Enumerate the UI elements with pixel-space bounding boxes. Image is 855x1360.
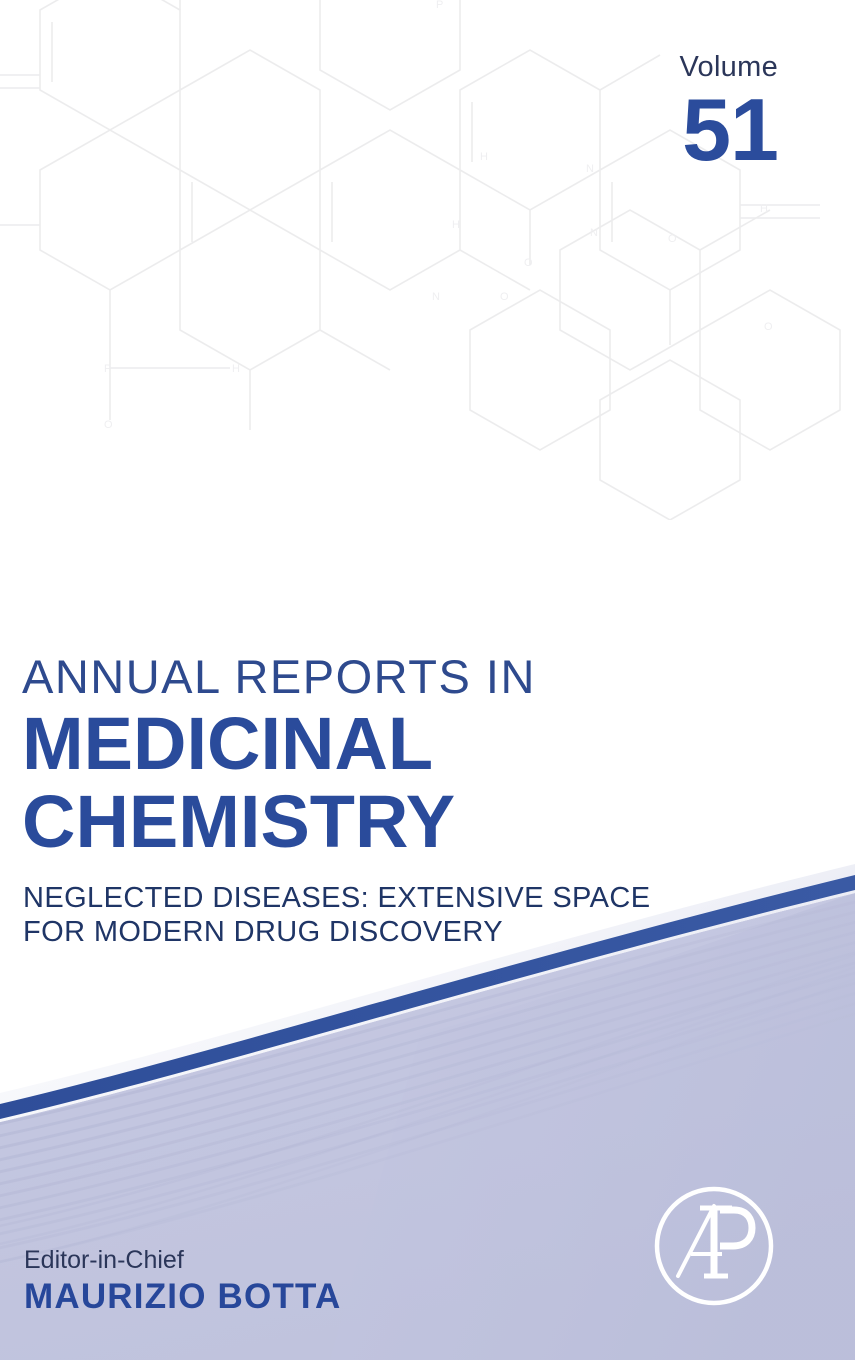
volume-number: 51 — [0, 88, 800, 172]
editor-name: MAURIZIO BOTTA — [24, 1276, 342, 1318]
academic-press-logo-icon — [648, 1180, 780, 1312]
subtitle-line-2: FOR MODERN DRUG DISCOVERY — [23, 915, 823, 949]
volume-label: Volume — [0, 52, 800, 82]
book-cover: P H O P H N O O H N N O H O Volume 51 AN… — [0, 0, 855, 1360]
editor-block: Editor-in-Chief MAURIZIO BOTTA — [24, 1245, 342, 1318]
series-title: ANNUAL REPORTS IN MEDICINAL CHEMISTRY — [22, 652, 782, 860]
volume-subtitle: NEGLECTED DISEASES: EXTENSIVE SPACE FOR … — [23, 881, 823, 949]
title-line-medicinal: MEDICINAL — [22, 706, 782, 782]
volume-block: Volume 51 — [0, 52, 800, 172]
subtitle-line-1: NEGLECTED DISEASES: EXTENSIVE SPACE — [23, 881, 823, 915]
title-line-annual-reports-in: ANNUAL REPORTS IN — [22, 652, 782, 702]
title-line-chemistry: CHEMISTRY — [22, 784, 782, 860]
editor-role-label: Editor-in-Chief — [24, 1245, 342, 1275]
